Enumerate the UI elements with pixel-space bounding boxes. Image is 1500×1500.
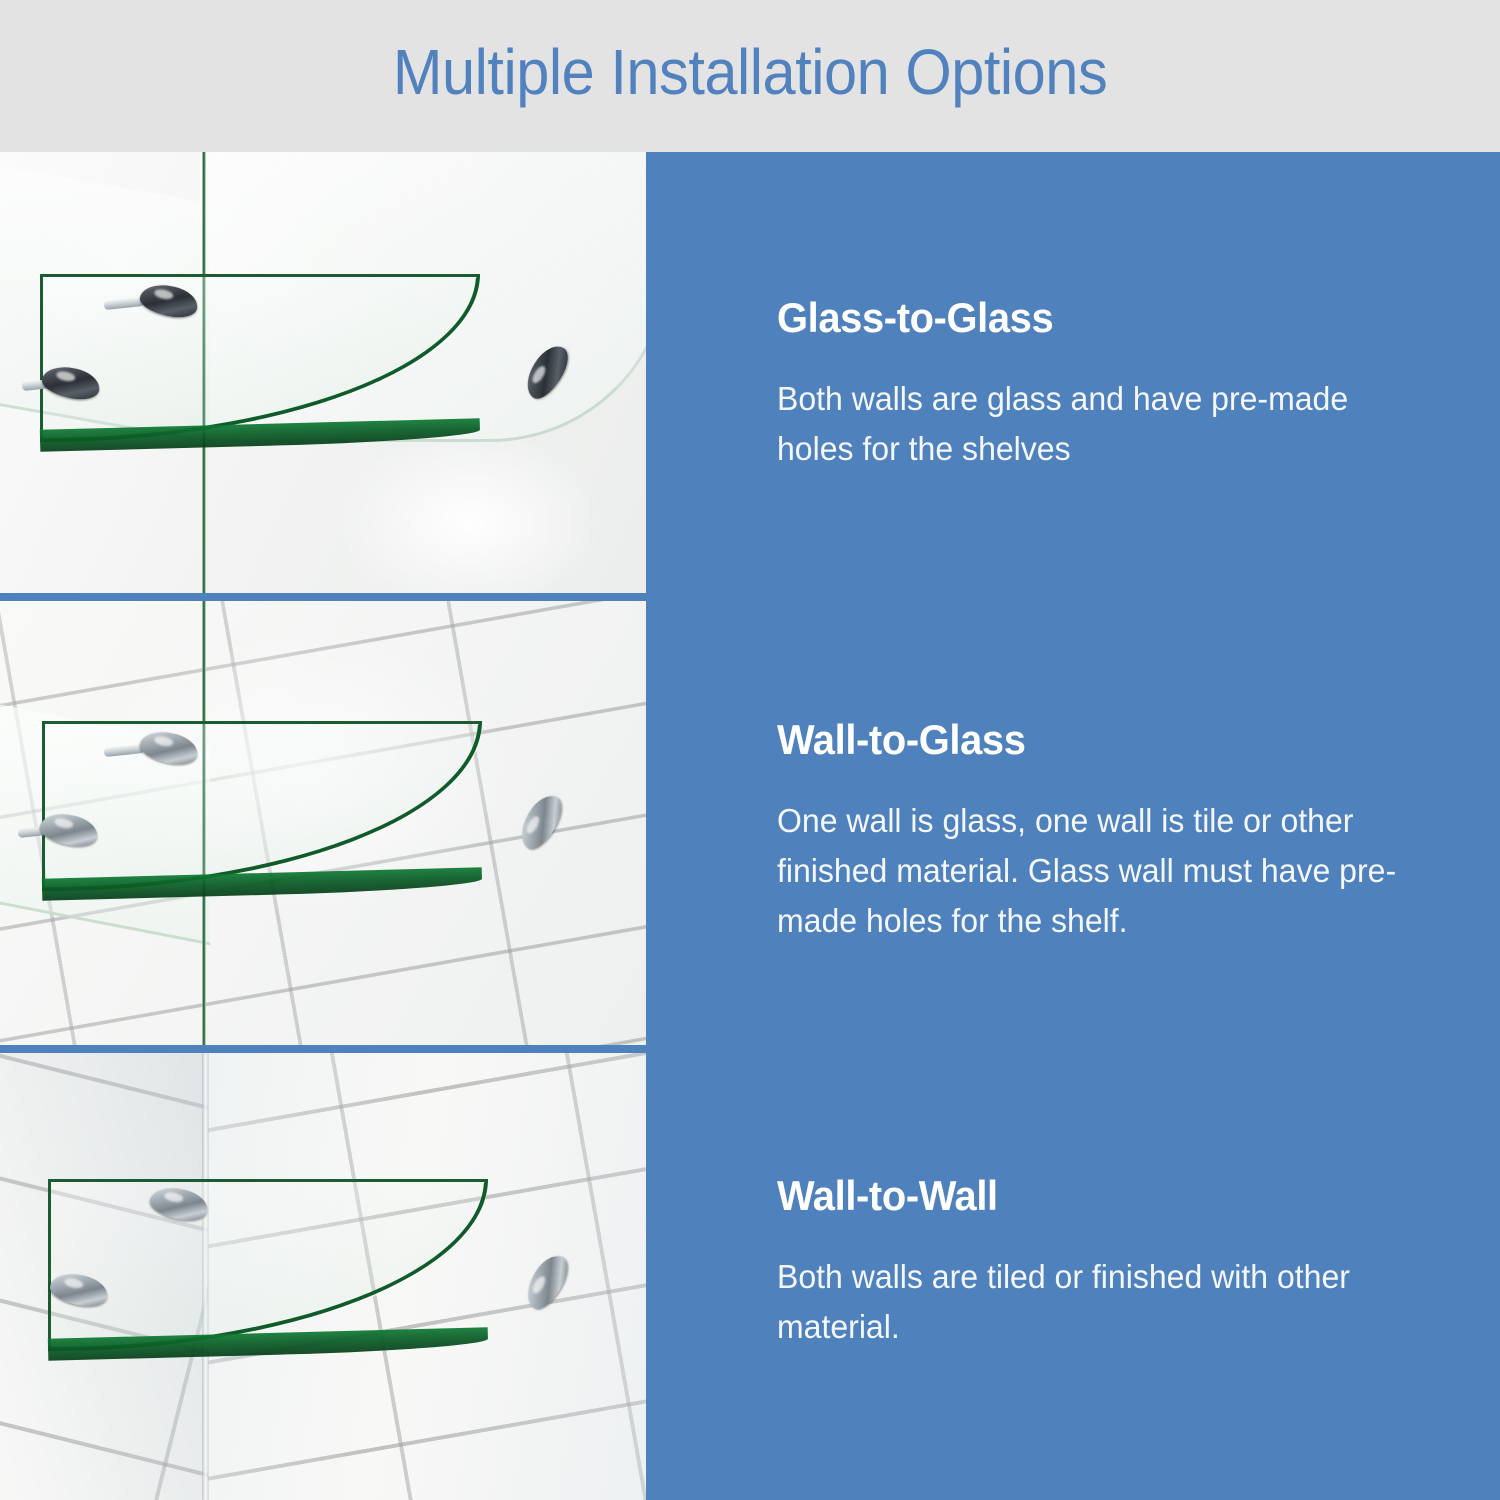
photo-column: [0, 152, 646, 1500]
clip-highlight: [55, 370, 76, 383]
clip-highlight: [53, 817, 74, 830]
clip-highlight: [163, 1191, 184, 1204]
clip-highlight: [153, 735, 174, 748]
clip-highlight: [531, 1274, 549, 1296]
corner-shelf-wall-to-wall: [48, 1179, 488, 1351]
photo-wall-to-wall: [0, 1053, 646, 1500]
clip-highlight: [525, 814, 543, 836]
clip-highlight: [530, 364, 548, 385]
clip-highlight: [153, 288, 174, 301]
panel-divider: [0, 593, 646, 601]
text-column: Glass-to-Glass Both walls are glass and …: [646, 152, 1500, 1500]
shelf-front-arc: [42, 721, 482, 891]
photo-glass-to-glass: [0, 152, 646, 593]
option-block-glass-to-glass: Glass-to-Glass Both walls are glass and …: [777, 296, 1437, 474]
shelf-front-arc: [40, 274, 480, 442]
photo-wall-to-glass: [0, 601, 646, 1045]
shelf-front-arc: [48, 1179, 488, 1351]
panel-divider: [0, 1045, 646, 1053]
option-block-wall-to-wall: Wall-to-Wall Both walls are tiled or fin…: [777, 1174, 1437, 1352]
option-heading-glass-to-glass: Glass-to-Glass: [777, 296, 1404, 340]
content-area: Glass-to-Glass Both walls are glass and …: [0, 152, 1500, 1500]
option-body-wall-to-wall: Both walls are tiled or finished with ot…: [777, 1252, 1417, 1352]
option-block-wall-to-glass: Wall-to-Glass One wall is glass, one wal…: [777, 718, 1437, 947]
option-body-glass-to-glass: Both walls are glass and have pre-made h…: [777, 374, 1417, 474]
corner-shelf-glass-to-glass: [40, 274, 480, 442]
corner-shelf-wall-to-glass: [42, 721, 482, 891]
header-bar: Multiple Installation Options: [0, 0, 1500, 152]
clip-highlight: [63, 1277, 84, 1290]
option-body-wall-to-glass: One wall is glass, one wall is tile or o…: [777, 796, 1417, 946]
page-title: Multiple Installation Options: [393, 40, 1107, 112]
option-heading-wall-to-glass: Wall-to-Glass: [777, 718, 1404, 762]
option-heading-wall-to-wall: Wall-to-Wall: [777, 1174, 1404, 1218]
